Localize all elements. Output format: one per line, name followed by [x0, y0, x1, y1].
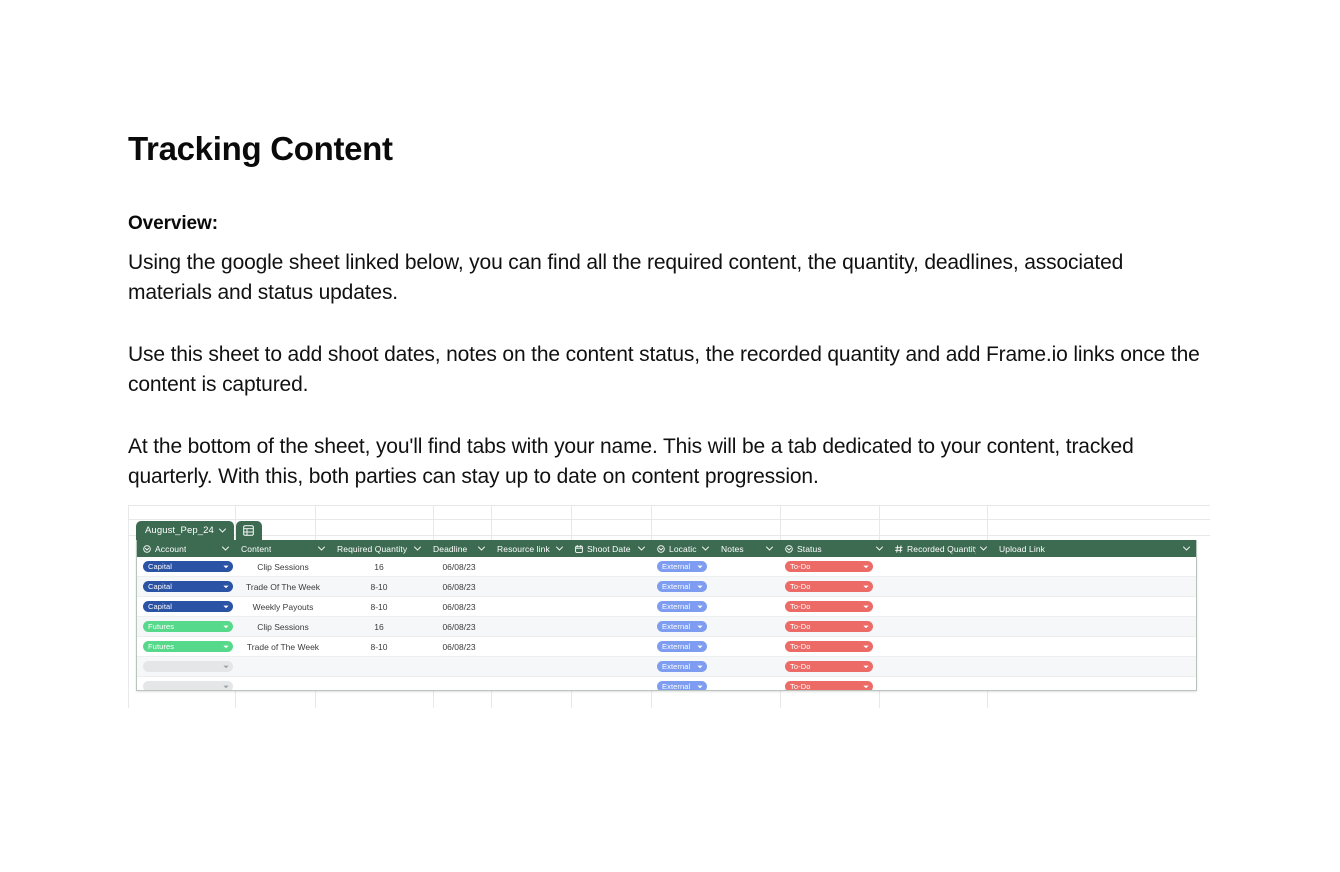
column-header-label: Notes — [721, 544, 744, 554]
cell-notes[interactable] — [715, 577, 779, 596]
status-pill-label: To-Do — [790, 602, 811, 611]
caret-down-icon[interactable] — [223, 685, 229, 689]
sheet-tab-august-pep-24[interactable]: August_Pep_24 — [136, 521, 234, 540]
location-pill-label: External — [662, 582, 690, 591]
column-header-label: Deadline — [433, 544, 467, 554]
status-select-pill[interactable]: To-Do — [785, 641, 873, 652]
cell-recorded-quantity[interactable] — [889, 637, 993, 656]
cell-deadline[interactable]: 06/08/23 — [427, 637, 491, 656]
column-header-label: Status — [797, 544, 822, 554]
location-select-pill[interactable]: External — [657, 561, 707, 572]
cell-recorded-quantity[interactable] — [889, 657, 993, 676]
chevron-down-icon[interactable] — [876, 546, 883, 551]
location-pill-label: External — [662, 602, 690, 611]
cell-status[interactable]: To-Do — [779, 677, 889, 691]
caret-down-icon[interactable] — [697, 605, 703, 609]
account-pill-label: Futures — [148, 642, 174, 651]
cell-resource-link[interactable] — [491, 557, 569, 576]
cell-required-quantity[interactable]: 8-10 — [331, 577, 427, 596]
cell-upload-link[interactable] — [993, 637, 1196, 656]
paragraph-usage: Use this sheet to add shoot dates, notes… — [128, 340, 1203, 400]
cell-resource-link[interactable] — [491, 637, 569, 656]
account-pill-label: Capital — [148, 582, 172, 591]
cell-location[interactable]: External — [651, 597, 715, 616]
caret-down-icon[interactable] — [863, 625, 869, 629]
cell-location[interactable]: External — [651, 677, 715, 691]
cell-account[interactable]: Futures — [137, 637, 235, 656]
cell-shoot-date[interactable] — [569, 677, 651, 691]
embedded-spreadsheet[interactable]: August_Pep_24 AccountContentRequired Qua… — [136, 521, 1197, 692]
column-header-label: Recorded Quantity — [907, 544, 976, 554]
chevron-down-icon[interactable] — [222, 546, 229, 551]
caret-down-icon[interactable] — [863, 585, 869, 589]
cell-upload-link[interactable] — [993, 617, 1196, 636]
chevron-down-icon[interactable] — [219, 528, 226, 533]
cell-shoot-date[interactable] — [569, 557, 651, 576]
cell-account[interactable]: Capital — [137, 557, 235, 576]
account-pill-label: Futures — [148, 622, 174, 631]
column-header-label: Shoot Date — [587, 544, 631, 554]
sheet-tab-label: August_Pep_24 — [145, 525, 214, 536]
column-header-deadline[interactable]: Deadline — [427, 540, 491, 557]
chevron-down-icon[interactable] — [478, 546, 485, 551]
status-pill-label: To-Do — [790, 662, 811, 671]
cell-upload-link[interactable] — [993, 657, 1196, 676]
sheet-rows: CapitalClip Sessions1606/08/23ExternalTo… — [137, 557, 1196, 691]
cell-required-quantity[interactable]: 16 — [331, 617, 427, 636]
cell-notes[interactable] — [715, 617, 779, 636]
circle-select-icon — [143, 545, 151, 553]
cell-recorded-quantity[interactable] — [889, 617, 993, 636]
cell-content[interactable]: Clip Sessions — [235, 617, 331, 636]
section-heading-overview: Overview: — [128, 213, 218, 235]
column-header-account[interactable]: Account — [137, 540, 235, 557]
cell-required-quantity[interactable]: 8-10 — [331, 637, 427, 656]
cell-required-quantity[interactable] — [331, 657, 427, 676]
cell-deadline[interactable] — [427, 657, 491, 676]
location-select-pill[interactable]: External — [657, 581, 707, 592]
caret-down-icon[interactable] — [223, 645, 229, 649]
status-select-pill[interactable]: To-Do — [785, 581, 873, 592]
cell-required-quantity[interactable] — [331, 677, 427, 691]
table-row[interactable]: CapitalWeekly Payouts8-1006/08/23Externa… — [137, 597, 1196, 617]
column-header-resource-link[interactable]: Resource link — [491, 540, 569, 557]
cell-required-quantity[interactable]: 16 — [331, 557, 427, 576]
cell-account[interactable]: Capital — [137, 577, 235, 596]
cell-notes[interactable] — [715, 597, 779, 616]
sheet-body: AccountContentRequired QuantityDeadlineR… — [136, 540, 1197, 691]
location-pill-label: External — [662, 642, 690, 651]
hash-icon — [895, 545, 903, 553]
cell-deadline[interactable]: 06/08/23 — [427, 577, 491, 596]
account-pill-label: Capital — [148, 602, 172, 611]
cell-upload-link[interactable] — [993, 557, 1196, 576]
table-row[interactable]: FuturesClip Sessions1606/08/23ExternalTo… — [137, 617, 1196, 637]
column-header-locatic[interactable]: Locatic — [651, 540, 715, 557]
chevron-down-icon[interactable] — [1183, 546, 1190, 551]
cell-resource-link[interactable] — [491, 657, 569, 676]
caret-down-icon[interactable] — [223, 585, 229, 589]
column-header-label: Locatic — [669, 544, 697, 554]
caret-down-icon[interactable] — [863, 685, 869, 689]
circle-select-icon — [785, 545, 793, 553]
account-select-pill[interactable]: Capital — [143, 601, 233, 612]
cell-content[interactable]: Trade Of The Week — [235, 577, 331, 596]
cell-shoot-date[interactable] — [569, 637, 651, 656]
account-select-pill[interactable]: Capital — [143, 581, 233, 592]
location-select-pill[interactable]: External — [657, 641, 707, 652]
column-header-upload-link[interactable]: Upload Link — [993, 540, 1196, 557]
table-row[interactable]: CapitalClip Sessions1606/08/23ExternalTo… — [137, 557, 1196, 577]
cell-location[interactable]: External — [651, 657, 715, 676]
column-header-label: Content — [241, 544, 271, 554]
cell-status[interactable]: To-Do — [779, 597, 889, 616]
cell-notes[interactable] — [715, 657, 779, 676]
cell-notes[interactable] — [715, 557, 779, 576]
cell-location[interactable]: External — [651, 557, 715, 576]
status-pill-label: To-Do — [790, 622, 811, 631]
cell-account[interactable] — [137, 657, 235, 676]
chevron-down-icon[interactable] — [766, 546, 773, 551]
location-select-pill[interactable]: External — [657, 681, 707, 691]
account-select-pill[interactable]: Capital — [143, 561, 233, 572]
cell-shoot-date[interactable] — [569, 597, 651, 616]
location-pill-label: External — [662, 682, 690, 691]
table-row[interactable]: ExternalTo-Do — [137, 677, 1196, 691]
column-header-required-quantity[interactable]: Required Quantity — [331, 540, 427, 557]
caret-down-icon[interactable] — [223, 625, 229, 629]
cell-content[interactable]: Clip Sessions — [235, 557, 331, 576]
caret-down-icon[interactable] — [223, 565, 229, 569]
cell-content[interactable]: Trade of The Week — [235, 637, 331, 656]
account-select-pill[interactable] — [143, 681, 233, 691]
chevron-down-icon[interactable] — [414, 546, 421, 551]
column-header-label: Resource link — [497, 544, 550, 554]
column-header-recorded-quantity[interactable]: Recorded Quantity — [889, 540, 993, 557]
column-header-label: Upload Link — [999, 544, 1045, 554]
caret-down-icon[interactable] — [697, 685, 703, 689]
status-select-pill[interactable]: To-Do — [785, 601, 873, 612]
cell-recorded-quantity[interactable] — [889, 577, 993, 596]
account-select-pill[interactable] — [143, 661, 233, 672]
cell-shoot-date[interactable] — [569, 657, 651, 676]
chevron-down-icon[interactable] — [318, 546, 325, 551]
cell-deadline[interactable]: 06/08/23 — [427, 617, 491, 636]
status-select-pill[interactable]: To-Do — [785, 561, 873, 572]
cell-account[interactable] — [137, 677, 235, 691]
sheet-header-row: AccountContentRequired QuantityDeadlineR… — [137, 540, 1196, 557]
column-header-notes[interactable]: Notes — [715, 540, 779, 557]
cell-upload-link[interactable] — [993, 597, 1196, 616]
cell-shoot-date[interactable] — [569, 577, 651, 596]
paragraph-tabs: At the bottom of the sheet, you'll find … — [128, 432, 1203, 492]
circle-select-icon — [657, 545, 665, 553]
account-pill-label: Capital — [148, 562, 172, 571]
column-header-shoot-date[interactable]: Shoot Date — [569, 540, 651, 557]
location-select-pill[interactable]: External — [657, 601, 707, 612]
location-pill-label: External — [662, 622, 690, 631]
column-header-content[interactable]: Content — [235, 540, 331, 557]
cell-deadline[interactable]: 06/08/23 — [427, 597, 491, 616]
table-row[interactable]: FuturesTrade of The Week8-1006/08/23Exte… — [137, 637, 1196, 657]
cell-location[interactable]: External — [651, 637, 715, 656]
cell-status[interactable]: To-Do — [779, 637, 889, 656]
cell-account[interactable]: Futures — [137, 617, 235, 636]
cell-resource-link[interactable] — [491, 577, 569, 596]
cell-required-quantity[interactable]: 8-10 — [331, 597, 427, 616]
caret-down-icon[interactable] — [223, 665, 229, 669]
cell-notes[interactable] — [715, 637, 779, 656]
cell-shoot-date[interactable] — [569, 617, 651, 636]
location-pill-label: External — [662, 562, 690, 571]
cell-resource-link[interactable] — [491, 597, 569, 616]
caret-down-icon[interactable] — [697, 625, 703, 629]
cell-location[interactable]: External — [651, 617, 715, 636]
cell-account[interactable]: Capital — [137, 597, 235, 616]
cell-status[interactable]: To-Do — [779, 557, 889, 576]
table-icon-button[interactable] — [236, 521, 262, 540]
cell-upload-link[interactable] — [993, 677, 1196, 691]
calendar-icon — [575, 545, 583, 553]
caret-down-icon[interactable] — [223, 605, 229, 609]
cell-upload-link[interactable] — [993, 577, 1196, 596]
account-select-pill[interactable]: Futures — [143, 641, 233, 652]
table-row[interactable]: ExternalTo-Do — [137, 657, 1196, 677]
cell-recorded-quantity[interactable] — [889, 597, 993, 616]
status-pill-label: To-Do — [790, 562, 811, 571]
cell-notes[interactable] — [715, 677, 779, 691]
column-header-status[interactable]: Status — [779, 540, 889, 557]
table-icon — [243, 525, 254, 536]
cell-deadline[interactable] — [427, 677, 491, 691]
caret-down-icon[interactable] — [697, 565, 703, 569]
caret-down-icon[interactable] — [697, 645, 703, 649]
table-row[interactable]: CapitalTrade Of The Week8-1006/08/23Exte… — [137, 577, 1196, 597]
cell-content[interactable] — [235, 677, 331, 691]
status-select-pill[interactable]: To-Do — [785, 661, 873, 672]
caret-down-icon[interactable] — [697, 585, 703, 589]
cell-status[interactable]: To-Do — [779, 577, 889, 596]
sheet-tab-bar: August_Pep_24 — [136, 521, 262, 540]
caret-down-icon[interactable] — [863, 645, 869, 649]
chevron-down-icon[interactable] — [638, 546, 645, 551]
caret-down-icon[interactable] — [863, 665, 869, 669]
cell-status[interactable]: To-Do — [779, 657, 889, 676]
chevron-down-icon[interactable] — [702, 546, 709, 551]
cell-resource-link[interactable] — [491, 617, 569, 636]
page-title: Tracking Content — [128, 129, 393, 169]
location-select-pill[interactable]: External — [657, 661, 707, 672]
caret-down-icon[interactable] — [863, 565, 869, 569]
status-pill-label: To-Do — [790, 582, 811, 591]
status-pill-label: To-Do — [790, 642, 811, 651]
status-select-pill[interactable]: To-Do — [785, 621, 873, 632]
column-header-label: Required Quantity — [337, 544, 407, 554]
cell-content[interactable] — [235, 657, 331, 676]
caret-down-icon[interactable] — [697, 665, 703, 669]
grid-line-horizontal — [128, 505, 1210, 506]
document-page: Tracking Content Overview: Using the goo… — [0, 0, 1340, 872]
location-pill-label: External — [662, 662, 690, 671]
cell-content[interactable]: Weekly Payouts — [235, 597, 331, 616]
cell-recorded-quantity[interactable] — [889, 557, 993, 576]
cell-location[interactable]: External — [651, 577, 715, 596]
status-pill-label: To-Do — [790, 682, 811, 691]
account-select-pill[interactable]: Futures — [143, 621, 233, 632]
caret-down-icon[interactable] — [863, 605, 869, 609]
status-select-pill[interactable]: To-Do — [785, 681, 873, 691]
location-select-pill[interactable]: External — [657, 621, 707, 632]
paragraph-overview: Using the google sheet linked below, you… — [128, 248, 1203, 308]
column-header-label: Account — [155, 544, 186, 554]
cell-deadline[interactable]: 06/08/23 — [427, 557, 491, 576]
cell-resource-link[interactable] — [491, 677, 569, 691]
chevron-down-icon[interactable] — [556, 546, 563, 551]
cell-status[interactable]: To-Do — [779, 617, 889, 636]
grid-line-horizontal — [128, 519, 1210, 520]
cell-recorded-quantity[interactable] — [889, 677, 993, 691]
chevron-down-icon[interactable] — [980, 546, 987, 551]
